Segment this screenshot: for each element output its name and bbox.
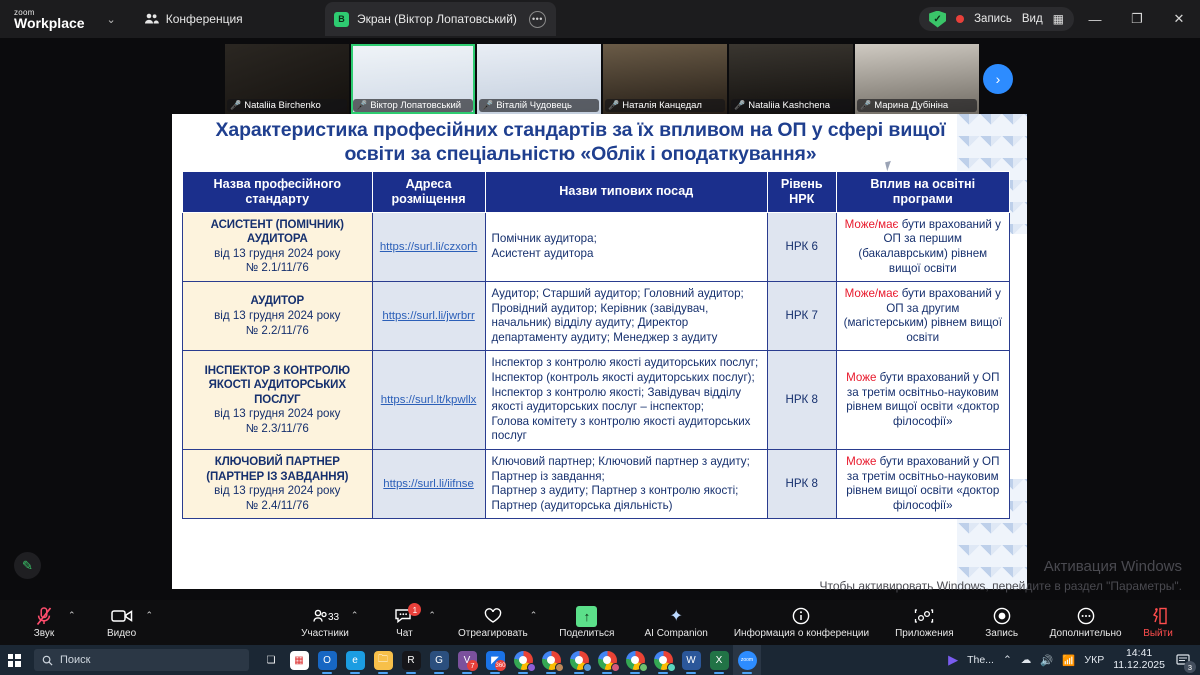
sparkle-icon: ✦ (669, 606, 682, 626)
more-options-icon[interactable]: ••• (529, 11, 546, 28)
nrk-level: НРК 8 (785, 477, 818, 490)
running-indicator (714, 672, 724, 674)
participant-thumbnail[interactable]: 🎤Nataliia Kashchena (729, 44, 853, 114)
taskbar-r-app-icon[interactable]: R (397, 645, 425, 675)
app-360-badge: 360 (495, 660, 506, 671)
participant-name-badge: 🎤Віталій Чудовець (479, 99, 599, 112)
running-indicator (546, 672, 556, 674)
participant-name-badge: 🎤Наталія Канцедал (605, 99, 725, 112)
cell-address: https://surl.li/iifnse (372, 450, 485, 519)
language-indicator[interactable]: УКР (1084, 654, 1104, 666)
audio-button[interactable]: Звук (22, 606, 66, 639)
nav-item-conference-label: Конференция (166, 12, 243, 26)
media-title[interactable]: The... (967, 654, 994, 666)
standard-date: від 13 грудня 2024 року (214, 309, 340, 322)
taskbar-zoom-icon[interactable]: zoom (733, 645, 761, 675)
chat-chevron-up-icon[interactable]: ⌃ (428, 610, 436, 621)
cell-nrk-level: НРК 8 (767, 351, 836, 450)
cell-standard-name: АУДИТОРвід 13 грудня 2024 року№ 2.2/11/7… (183, 282, 373, 351)
running-indicator (490, 672, 500, 674)
cell-nrk-level: НРК 7 (767, 282, 836, 351)
cell-positions: Аудитор; Старший аудитор; Головний аудит… (485, 282, 767, 351)
close-button[interactable]: ✕ (1158, 0, 1200, 38)
participant-name: Nataliia Kashchena (748, 100, 830, 111)
taskbar-chrome-window-icon[interactable] (593, 645, 621, 675)
running-indicator (658, 672, 668, 674)
react-chevron-up-icon[interactable]: ⌃ (530, 610, 538, 621)
participant-name-badge: 🎤Марина Дубініна (857, 99, 977, 112)
taskbar-chrome-window-icon[interactable] (621, 645, 649, 675)
share-label: Поделиться (559, 628, 614, 639)
taskbar-chrome-window-icon[interactable] (509, 645, 537, 675)
participant-name-badge: 🎤Nataliia Kashchena (731, 99, 851, 112)
table-column-header: Рівень НРК (767, 172, 836, 213)
recording-dot-icon (956, 15, 964, 23)
participant-filmstrip[interactable]: 🎤Nataliia Birchenko🎤Віктор Лопатовський🎤… (225, 44, 975, 114)
microphone-muted-icon (36, 606, 52, 626)
participant-thumbnail[interactable]: 🎤Наталія Канцедал (603, 44, 727, 114)
running-indicator (630, 672, 640, 674)
taskbar-outlook-icon[interactable]: O (313, 645, 341, 675)
standard-name: АСИСТЕНТ (ПОМІЧНИК) АУДИТОРА (189, 218, 366, 247)
standard-url-link[interactable]: https://surl.lt/kpwllx (381, 394, 477, 406)
search-placeholder: Поиск (60, 654, 90, 666)
chat-label: Чат (396, 628, 413, 639)
taskbar-word-icon[interactable]: W (677, 645, 705, 675)
running-indicator (574, 672, 584, 674)
meeting-info-button[interactable]: Информация о конференции (734, 606, 869, 639)
taskbar-chrome-window-icon[interactable] (649, 645, 677, 675)
cell-address: https://surl.lt/kpwllx (372, 351, 485, 450)
muted-microphone-icon: 🎤 (860, 100, 871, 111)
muted-microphone-icon: 🎤 (734, 100, 745, 111)
standard-date: від 13 грудня 2024 року (214, 247, 340, 260)
title-bar-right: Запись Вид ▦ — ❐ ✕ (919, 0, 1200, 38)
taskbar-microsoft-store-icon[interactable]: ▦ (285, 645, 313, 675)
cell-positions: Ключовий партнер; Ключовий партнер з ауд… (485, 450, 767, 519)
more-label: Дополнительно (1050, 628, 1122, 639)
table-column-header: Назви типових посад (485, 172, 767, 213)
participant-name: Nataliia Birchenko (244, 100, 321, 111)
participants-icon: 33 (311, 606, 339, 626)
cell-nrk-level: НРК 6 (767, 212, 836, 281)
table-column-header: Адреса розміщення (372, 172, 485, 213)
standard-date: від 13 грудня 2024 року (214, 484, 340, 497)
standard-number: № 2.2/11/76 (246, 324, 309, 337)
shared-screen-slide: Характеристика професійних стандартів за… (172, 114, 1027, 589)
more-button[interactable]: Дополнительно (1050, 606, 1122, 639)
running-indicator (350, 672, 360, 674)
people-icon (144, 13, 159, 25)
impact-highlight: Може (846, 455, 876, 468)
cell-standard-name: КЛЮЧОВИЙ ПАРТНЕР (ПАРТНЕР ІЗ ЗАВДАННЯ)ві… (183, 450, 373, 519)
muted-microphone-icon: 🎤 (482, 100, 493, 111)
video-button[interactable]: Видео (100, 606, 144, 639)
participant-name: Віктор Лопатовський (370, 100, 461, 111)
notifications-icon[interactable]: 3 (1174, 651, 1192, 669)
standard-number: № 2.1/11/76 (246, 261, 309, 274)
chat-unread-badge: 1 (408, 603, 421, 616)
apps-button[interactable]: Приложения (895, 606, 954, 639)
ai-companion-label: AI Companion (644, 628, 707, 639)
nrk-level: НРК 8 (785, 393, 818, 406)
running-indicator (378, 672, 388, 674)
viber-badge: 7 (467, 660, 478, 671)
share-button[interactable]: ↑ Поделиться (559, 606, 614, 639)
video-label: Видео (107, 628, 136, 639)
participant-thumbnail[interactable]: 🎤Віталій Чудовець (477, 44, 601, 114)
cell-address: https://surl.li/czxorh (372, 212, 485, 281)
tab-label: Экран (Віктор Лопатовський) (357, 12, 517, 26)
notification-count-badge: 3 (1184, 661, 1196, 673)
muted-microphone-icon: 🎤 (608, 100, 619, 111)
ai-companion-button[interactable]: ✦ AI Companion (644, 606, 707, 639)
annotate-pen-icon[interactable]: ✎ (14, 552, 41, 579)
clock[interactable]: 14:41 11.12.2025 (1113, 648, 1165, 672)
cell-positions: Інспектор з контролю якості аудиторських… (485, 351, 767, 450)
cell-standard-name: АСИСТЕНТ (ПОМІЧНИК) АУДИТОРАвід 13 грудн… (183, 212, 373, 281)
video-chevron-up-icon[interactable]: ⌃ (146, 610, 154, 621)
table-header-row: Назва професійного стандартуАдреса розмі… (183, 172, 1010, 213)
table-row: ІНСПЕКТОР З КОНТРОЛЮ ЯКОСТІ АУДИТОРСЬКИХ… (183, 351, 1010, 450)
standard-date: від 13 грудня 2024 року (214, 407, 340, 420)
standard-url-link[interactable]: https://surl.li/czxorh (380, 241, 477, 253)
maximize-button[interactable]: ❐ (1116, 0, 1158, 38)
react-label: Отреагировать (458, 628, 528, 639)
share-screen-icon: ↑ (576, 606, 597, 626)
taskbar-excel-icon[interactable]: X (705, 645, 733, 675)
status-pill: Запись Вид ▦ (919, 7, 1074, 31)
table-row: АСИСТЕНТ (ПОМІЧНИК) АУДИТОРАвід 13 грудн… (183, 212, 1010, 281)
participant-thumbnail[interactable]: 🎤Nataliia Birchenko (225, 44, 349, 114)
info-icon (792, 606, 810, 626)
nrk-level: НРК 7 (785, 309, 818, 322)
slide-title: Характеристика професійних стандартів за… (186, 119, 975, 167)
recording-label[interactable]: Запись (974, 13, 1012, 25)
system-tray: ▶ The... ⌃ ☁ 🔊 📶 УКР 14:41 11.12.2025 3 (948, 645, 1200, 675)
taskbar-microsoft-edge-icon[interactable]: e (341, 645, 369, 675)
zoom-meeting-window: zoom Workplace ⌄ Конференция В Экран (Ві… (0, 0, 1200, 675)
chevron-down-icon[interactable]: ⌄ (107, 13, 116, 26)
onedrive-icon[interactable]: ☁ (1021, 654, 1032, 666)
taskbar-app-360-icon[interactable]: ◤360 (481, 645, 509, 675)
tab-screen-share[interactable]: В Экран (Віктор Лопатовський) ••• (325, 2, 556, 36)
cell-impact: Може бути врахований у ОП за третім осві… (836, 351, 1009, 450)
impact-highlight: Може/має (845, 218, 899, 231)
record-label: Запись (985, 628, 1018, 639)
cell-nrk-level: НРК 8 (767, 450, 836, 519)
taskbar-chrome-window-icon[interactable] (565, 645, 593, 675)
leave-label: Выйти (1143, 628, 1173, 639)
standard-url-link[interactable]: https://surl.li/iifnse (383, 478, 474, 490)
heart-icon (483, 606, 503, 626)
cell-impact: Може/має бути врахований у ОП за першим … (836, 212, 1009, 281)
taskbar-grammarly-icon[interactable]: G (425, 645, 453, 675)
participants-button[interactable]: 33 Участники (301, 606, 349, 639)
impact-highlight: Може/має (845, 287, 899, 300)
react-button[interactable]: Отреагировать (458, 606, 528, 639)
table-row: КЛЮЧОВИЙ ПАРТНЕР (ПАРТНЕР ІЗ ЗАВДАННЯ)ві… (183, 450, 1010, 519)
chat-button[interactable]: 1 Чат (382, 606, 426, 639)
running-indicator (406, 672, 416, 674)
nav-item-conference[interactable]: Конференция (144, 12, 243, 26)
filmstrip-next-button[interactable]: › (983, 64, 1013, 94)
view-label[interactable]: Вид (1022, 13, 1043, 25)
cell-positions: Помічник аудитора; Асистент аудитора (485, 212, 767, 281)
apps-label: Приложения (895, 628, 954, 639)
standard-url-link[interactable]: https://surl.li/jwrbrr (382, 310, 474, 322)
audio-label: Звук (34, 628, 55, 639)
taskbar-viber-icon[interactable]: V7 (453, 645, 481, 675)
record-button[interactable]: Запись (980, 606, 1024, 639)
participant-thumbnail[interactable]: 🎤Марина Дубініна (855, 44, 979, 114)
search-input[interactable]: Поиск (34, 649, 249, 671)
leave-button[interactable]: Выйти (1136, 606, 1180, 639)
running-indicator (602, 672, 612, 674)
muted-microphone-icon: 🎤 (356, 100, 367, 111)
participant-name-badge: 🎤Nataliia Birchenko (227, 99, 347, 112)
cell-standard-name: ІНСПЕКТОР З КОНТРОЛЮ ЯКОСТІ АУДИТОРСЬКИХ… (183, 351, 373, 450)
svg-text:33: 33 (328, 612, 339, 623)
volume-icon[interactable]: 🔊 (1040, 654, 1053, 667)
participants-chevron-up-icon[interactable]: ⌃ (351, 610, 359, 621)
tab-avatar-badge: В (334, 12, 349, 27)
positions-text: Помічник аудитора; Асистент аудитора (492, 232, 597, 260)
participant-name: Віталій Чудовець (496, 100, 572, 111)
muted-microphone-icon: 🎤 (230, 100, 241, 111)
windows-taskbar: Поиск ❏▦Oe🗀RGV7◤360WXzoom ▶ The... ⌃ ☁ 🔊… (0, 645, 1200, 675)
participant-name: Наталія Канцедал (622, 100, 702, 111)
camera-icon (111, 606, 133, 626)
zoom-brand-line2: Workplace (14, 16, 85, 30)
ellipsis-icon (1076, 606, 1096, 626)
running-indicator (742, 672, 752, 674)
taskbar-task-view-icon[interactable]: ❏ (257, 645, 285, 675)
tray-expand-icon[interactable]: ⌃ (1003, 654, 1012, 666)
zoom-logo: zoom Workplace (14, 9, 85, 30)
running-indicator (462, 672, 472, 674)
positions-text: Інспектор з контролю якості аудиторських… (492, 356, 759, 442)
standard-name: АУДИТОР (189, 294, 366, 308)
table-column-header: Вплив на освітні програми (836, 172, 1009, 213)
running-indicator (322, 672, 332, 674)
search-icon (42, 655, 53, 666)
taskbar-file-explorer-icon[interactable]: 🗀 (369, 645, 397, 675)
audio-chevron-up-icon[interactable]: ⌃ (68, 610, 76, 621)
title-bar: zoom Workplace ⌄ Конференция В Экран (Ві… (0, 0, 1200, 38)
leave-door-icon (1148, 606, 1168, 626)
table-row: АУДИТОРвід 13 грудня 2024 року№ 2.2/11/7… (183, 282, 1010, 351)
start-button[interactable] (0, 645, 28, 675)
network-icon[interactable]: 📶 (1062, 654, 1075, 667)
record-icon (993, 606, 1011, 626)
clock-date: 11.12.2025 (1113, 660, 1165, 672)
impact-highlight: Може (846, 371, 876, 384)
participant-thumbnail[interactable]: 🎤Віктор Лопатовський (351, 44, 475, 114)
positions-text: Аудитор; Старший аудитор; Головний аудит… (492, 287, 744, 344)
layout-grid-icon[interactable]: ▦ (1053, 12, 1064, 26)
cell-address: https://surl.li/jwrbrr (372, 282, 485, 351)
meeting-info-label: Информация о конференции (734, 628, 869, 639)
standard-number: № 2.3/11/76 (246, 422, 309, 435)
cell-impact: Може/має бути врахований у ОП за другим … (836, 282, 1009, 351)
table-column-header: Назва професійного стандарту (183, 172, 373, 213)
zoom-toolbar: Звук ⌃ Видео ⌃ (0, 600, 1200, 645)
running-indicator (518, 672, 528, 674)
participant-name: Марина Дубініна (874, 100, 948, 111)
taskbar-chrome-window-icon[interactable] (537, 645, 565, 675)
running-indicator (434, 672, 444, 674)
standard-number: № 2.4/11/76 (246, 499, 309, 512)
media-player-icon[interactable]: ▶ (948, 652, 958, 668)
apps-icon (914, 606, 934, 626)
cell-impact: Може бути врахований у ОП за третім осві… (836, 450, 1009, 519)
minimize-button[interactable]: — (1074, 0, 1116, 38)
participant-name-badge: 🎤Віктор Лопатовський (353, 99, 473, 112)
nrk-level: НРК 6 (785, 240, 818, 253)
participants-label: Участники (301, 628, 349, 639)
running-indicator (686, 672, 696, 674)
positions-text: Ключовий партнер; Ключовий партнер з ауд… (492, 455, 750, 512)
chat-icon: 1 (394, 606, 414, 626)
standard-name: ІНСПЕКТОР З КОНТРОЛЮ ЯКОСТІ АУДИТОРСЬКИХ… (189, 364, 366, 407)
standard-name: КЛЮЧОВИЙ ПАРТНЕР (ПАРТНЕР ІЗ ЗАВДАННЯ) (189, 455, 366, 484)
shield-icon[interactable] (929, 11, 946, 28)
standards-table: Назва професійного стандартуАдреса розмі… (182, 171, 1010, 519)
